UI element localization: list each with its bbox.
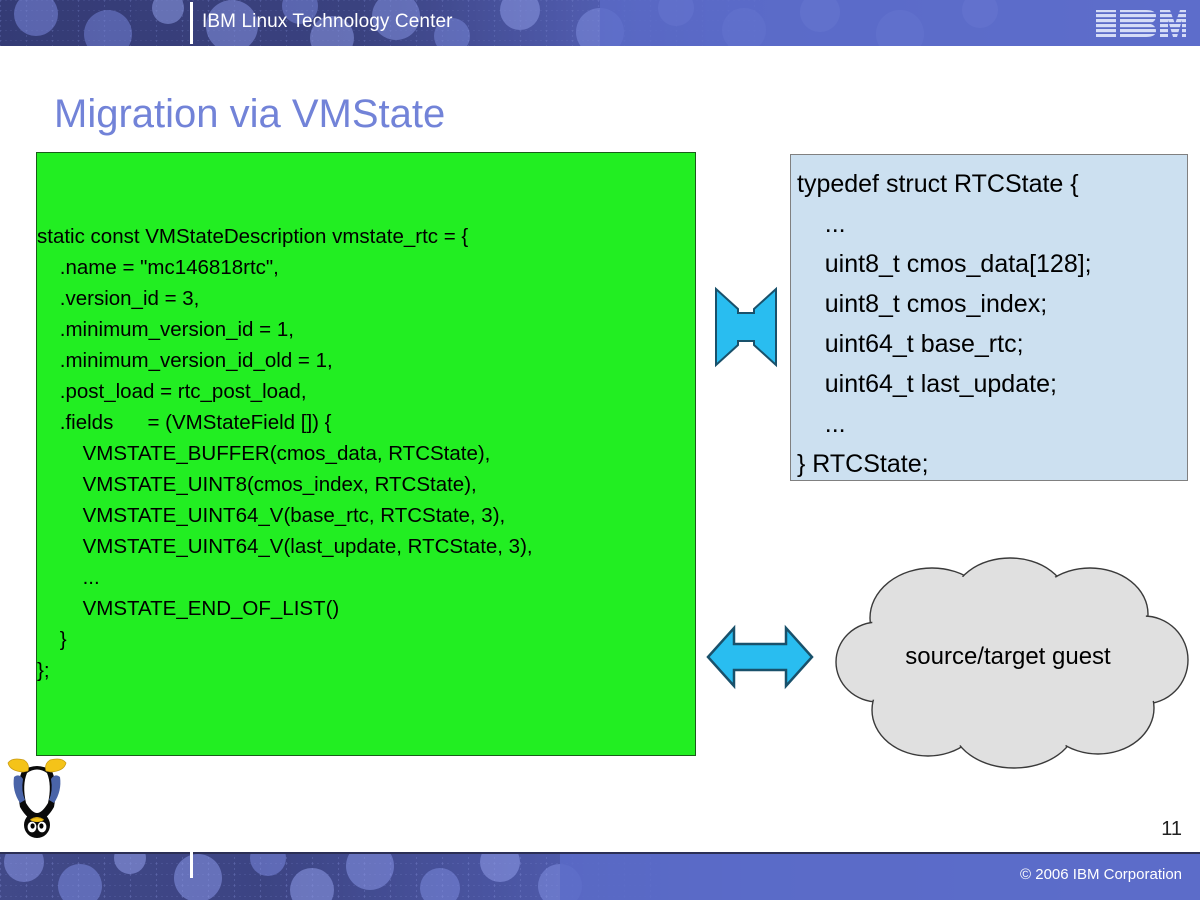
header-bar: IBM Linux Technology Center	[0, 0, 1200, 46]
page-number: 11	[1161, 818, 1182, 841]
double-arrow-icon	[712, 283, 780, 371]
page-title: Migration via VMState	[54, 92, 445, 137]
ibm-logo	[1094, 8, 1186, 39]
footer-bar: © 2006 IBM Corporation	[0, 852, 1200, 900]
rtcstate-struct-text: typedef struct RTCState { ... uint8_t cm…	[797, 164, 1200, 484]
footer-copyright-text: © 2006 IBM Corporation	[1020, 866, 1182, 883]
header-texture	[0, 0, 1200, 46]
rtcstate-struct-box: typedef struct RTCState { ... uint8_t cm…	[790, 154, 1188, 481]
cloud-shape	[832, 552, 1192, 770]
vmstate-code-box: static const VMStateDescription vmstate_…	[36, 152, 696, 756]
footer-top-border	[0, 852, 1200, 854]
tux-penguin-mascot	[6, 757, 68, 843]
footer-divider	[190, 852, 193, 878]
vmstate-code-text: static const VMStateDescription vmstate_…	[37, 221, 696, 686]
header-divider	[190, 2, 193, 44]
double-arrow-icon	[706, 622, 814, 692]
header-title-text: IBM Linux Technology Center	[202, 11, 453, 33]
